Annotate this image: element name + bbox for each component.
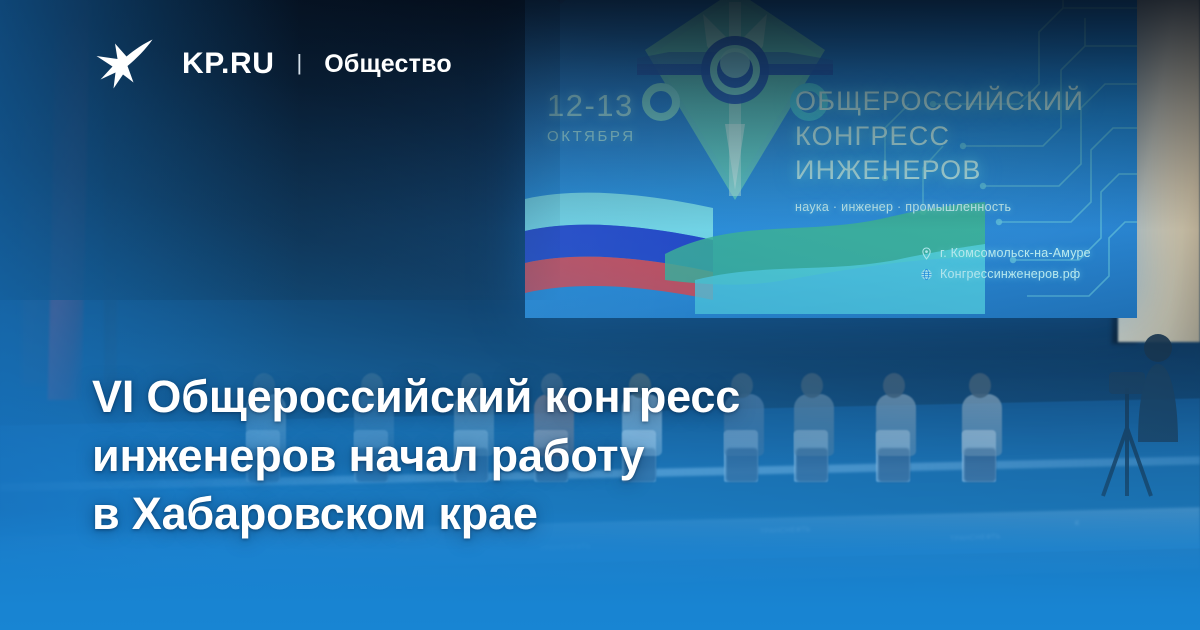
screen-date-month: ОКТЯБРЯ [547, 128, 636, 145]
audience-member [750, 576, 788, 630]
stage-led-screen: 12-13 ОКТЯБРЯ ОБЩЕРОССИЙСКИЙ КОНГРЕСС ИН… [525, 0, 1137, 318]
screen-corner-logo-icon [545, 0, 577, 10]
screen-title-block: ОБЩЕРОССИЙСКИЙ КОНГРЕСС ИНЖЕНЕРОВ наука … [795, 84, 1135, 214]
headline-line-3: в Хабаровском крае [92, 485, 972, 544]
screen-date-main: 12-13 [547, 90, 636, 121]
rubric-label[interactable]: Общество [324, 50, 452, 79]
audience-member [87, 573, 138, 630]
audience-member [912, 568, 950, 630]
screen-website-row: Конгрессинженеров.рф [920, 267, 1091, 281]
audience-member [389, 583, 440, 630]
congress-diamond-emblem-icon [637, 0, 833, 206]
audience-member [6, 590, 44, 630]
audience-member [610, 584, 648, 630]
screen-website-text: Конгрессинженеров.рф [940, 267, 1080, 281]
header-separator: | [296, 50, 302, 76]
circuit-traces-icon [813, 0, 1137, 318]
audience-member [971, 577, 1022, 630]
headline-line-1: VI Общероссийский конгресс [92, 368, 972, 427]
audience-member [168, 582, 206, 630]
russian-flag-icon [525, 184, 727, 302]
audience-member [691, 567, 742, 630]
map-pin-icon [920, 247, 933, 260]
screen-title-line-2: КОНГРЕСС [795, 119, 1135, 154]
news-share-card: 12-13 ОКТЯБРЯ ОБЩЕРОССИЙСКИЙ КОНГРЕСС ИН… [0, 0, 1200, 630]
screen-title-line-1: ОБЩЕРОССИЙСКИЙ [795, 84, 1135, 119]
audience-member [1052, 586, 1090, 630]
headline-line-2: инженеров начал работу [92, 427, 972, 486]
camera-operator-icon [1128, 330, 1190, 460]
sponsor-logo-mark: К [1075, 520, 1079, 527]
globe-icon [920, 268, 933, 281]
panelist-head [969, 373, 991, 398]
screen-meta-block: г. Комсомольск-на-Амуре Конгрессинженеро… [920, 246, 1091, 288]
screen-title-line-3: ИНЖЕНЕРОВ [795, 153, 1135, 188]
screen-tagline: наука · инженер · промышленность [795, 200, 1135, 214]
audience-member [1133, 569, 1184, 630]
audience-member [470, 566, 508, 630]
brand-label[interactable]: KP.RU [182, 47, 274, 81]
screen-location-row: г. Комсомольск-на-Амуре [920, 246, 1091, 260]
screen-location-text: г. Комсомольск-на-Амуре [940, 246, 1091, 260]
page-title: VI Общероссийский конгресс инженеров нач… [92, 368, 972, 544]
teal-wave-shapes [655, 184, 985, 314]
audience-member [831, 585, 882, 630]
screen-vignette [525, 0, 1137, 318]
audience-member [529, 575, 580, 630]
kp-swallow-bird-icon[interactable] [94, 38, 156, 90]
site-header[interactable]: KP.RU | Общество [94, 38, 452, 90]
audience-member [249, 565, 300, 630]
screen-date-block: 12-13 ОКТЯБРЯ [547, 90, 636, 145]
audience-member [308, 574, 346, 630]
